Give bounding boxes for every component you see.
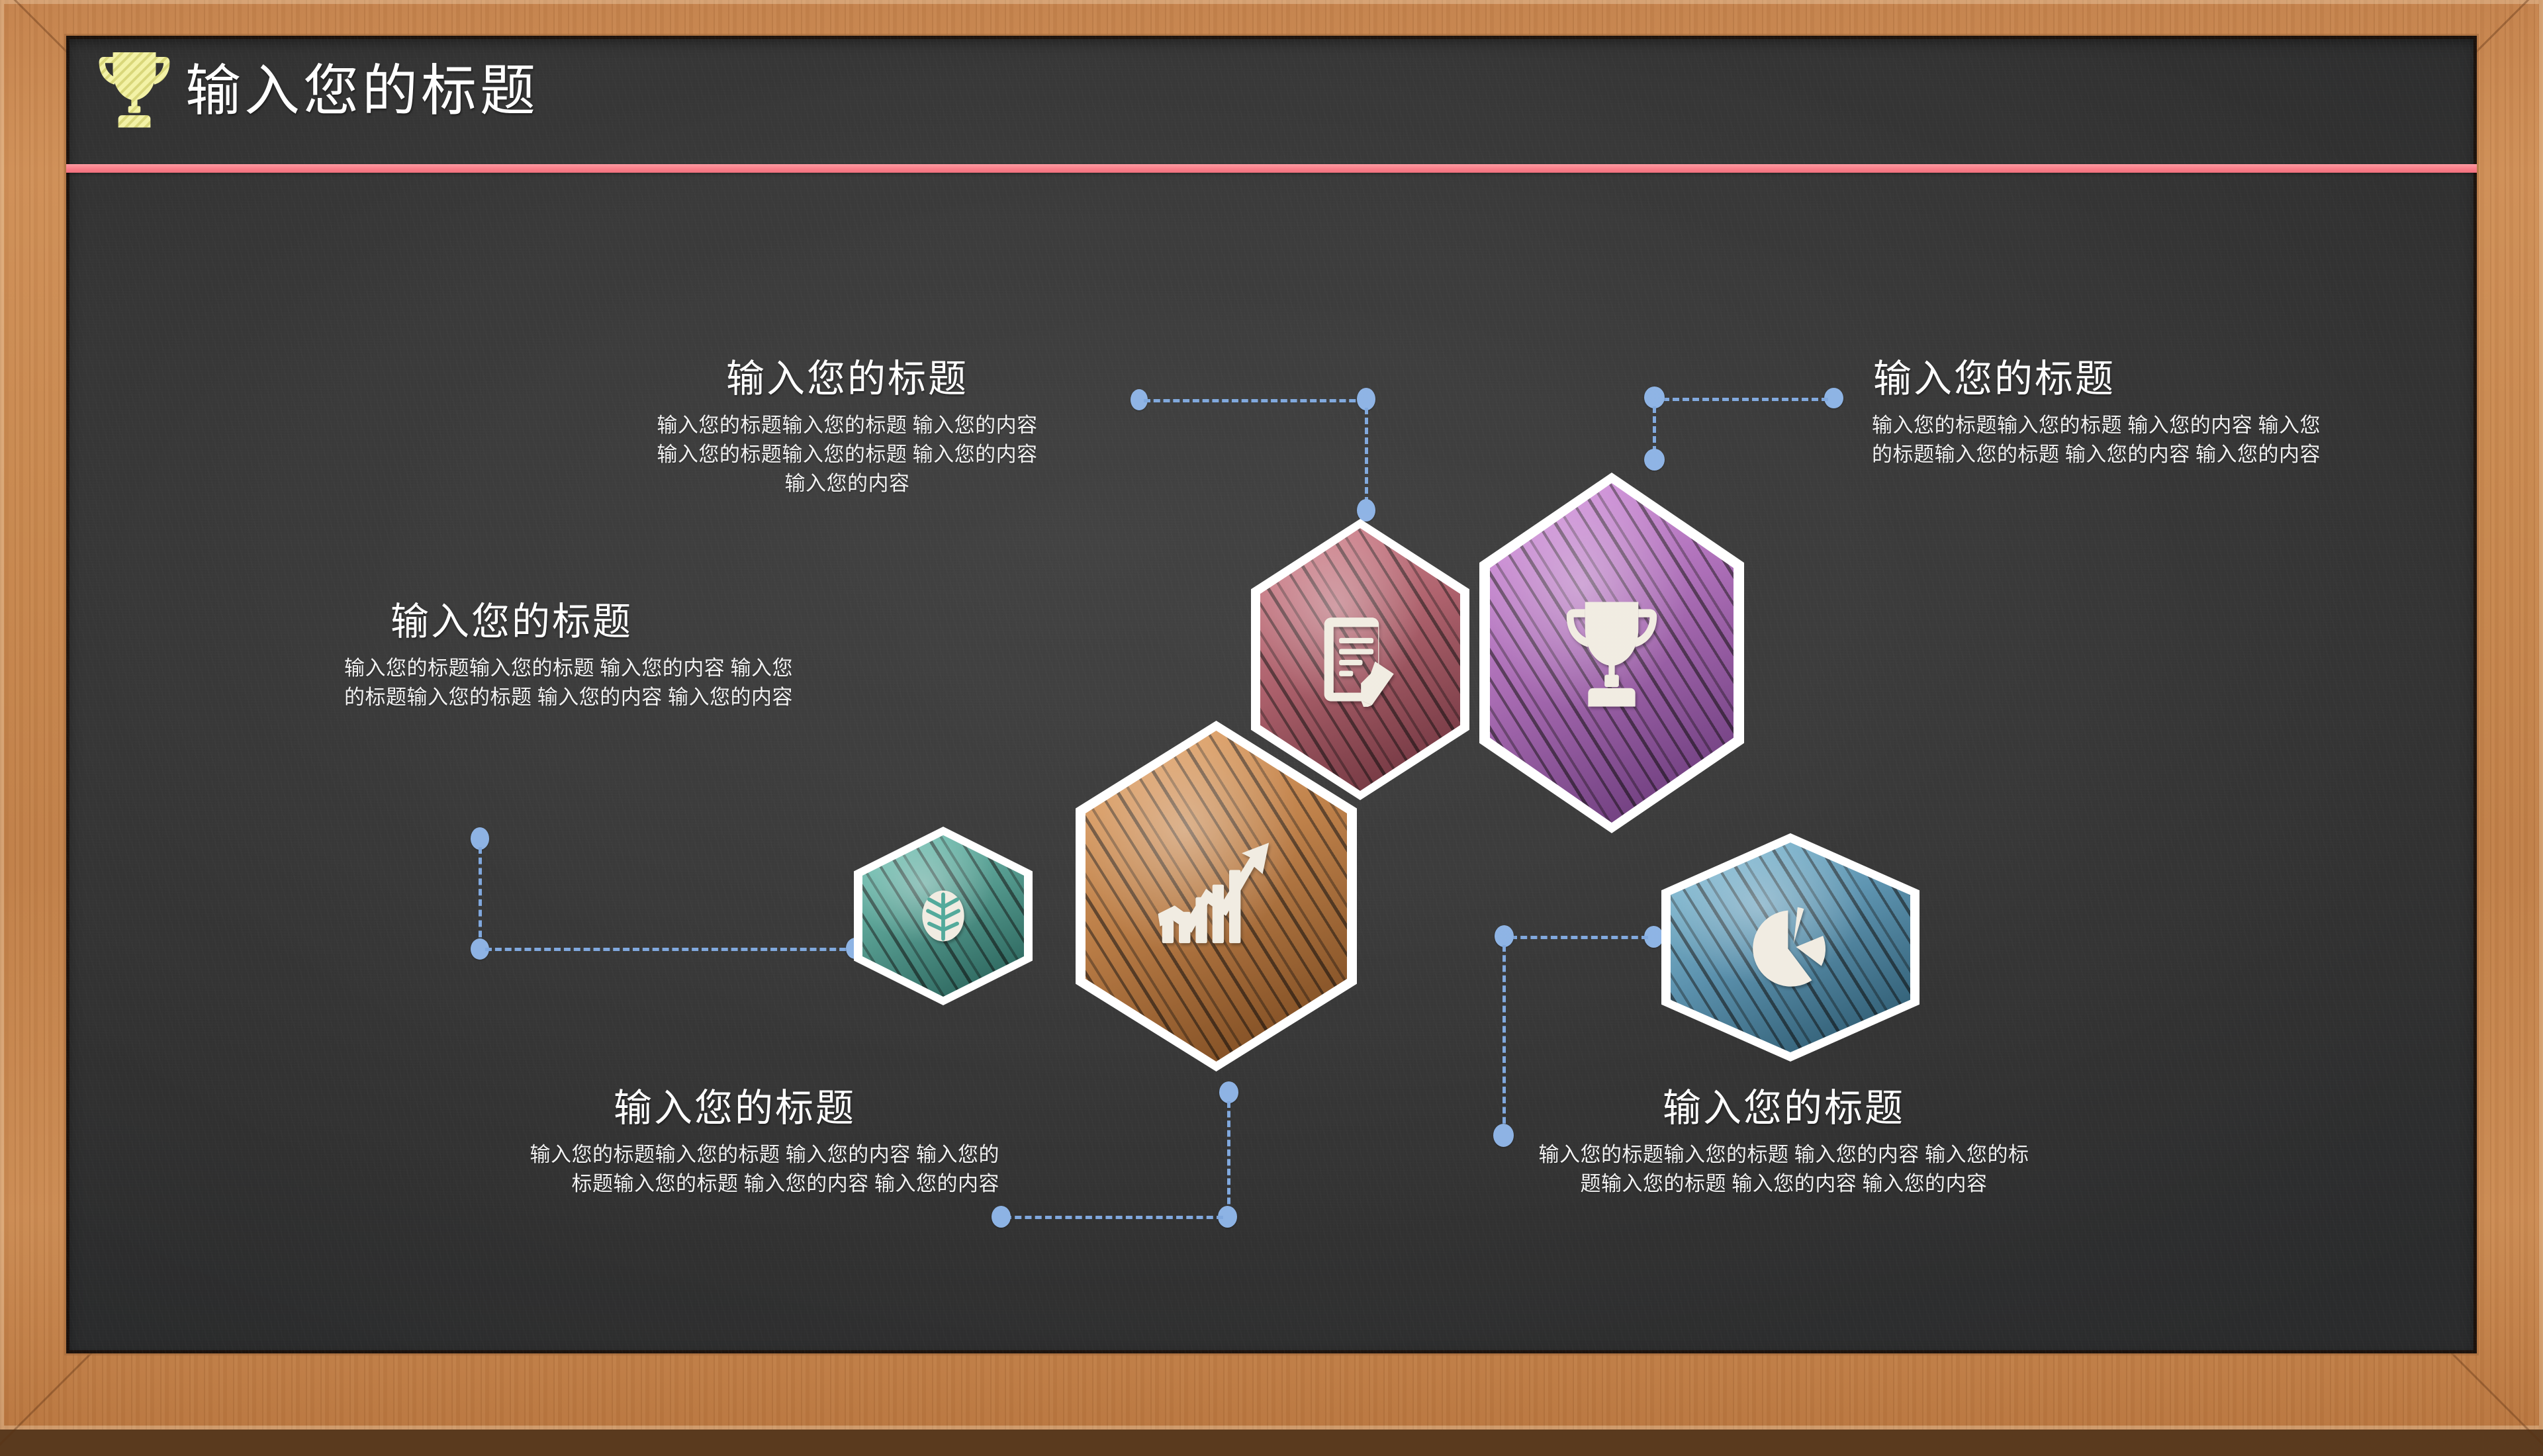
block-top-right-body: 输入您的标题输入您的标题 输入您的内容 输入您的标题输入您的标题 输入您的内容 … xyxy=(1853,411,2335,469)
hex-purple[interactable] xyxy=(1479,473,1744,833)
block-middle-left-title: 输入您的标题 xyxy=(344,602,834,643)
trophy-icon xyxy=(1561,596,1663,711)
block-bottom-right-body: 输入您的标题输入您的标题 输入您的内容 输入您的标题输入您的标题 输入您的内容 … xyxy=(1509,1140,2058,1199)
block-bottom-left: 输入您的标题 输入您的标题输入您的标题 输入您的内容 输入您的标题输入您的标题 … xyxy=(477,1088,999,1199)
block-middle-left-body: 输入您的标题输入您的标题 输入您的内容 输入您的标题输入您的标题 输入您的内容 … xyxy=(344,654,794,712)
hex-blue[interactable] xyxy=(1661,833,1919,1062)
hex-orange[interactable] xyxy=(1076,721,1357,1071)
block-bottom-left-title: 输入您的标题 xyxy=(477,1088,999,1130)
block-bottom-left-body: 输入您的标题输入您的标题 输入您的内容 输入您的标题输入您的标题 输入您的内容 … xyxy=(477,1140,999,1199)
block-bottom-right-title: 输入您的标题 xyxy=(1509,1088,2058,1130)
hex-teal[interactable] xyxy=(854,827,1033,1005)
block-top-left-title: 输入您的标题 xyxy=(569,359,1125,400)
chalkboard-canvas: 输入您的标题 xyxy=(66,36,2477,1353)
block-bottom-right: 输入您的标题 输入您的标题输入您的标题 输入您的内容 输入您的标题输入您的标题 … xyxy=(1509,1088,2058,1199)
leaf-icon xyxy=(911,884,975,948)
block-top-right: 输入您的标题 输入您的标题输入您的标题 输入您的内容 输入您的标题输入您的标题 … xyxy=(1853,359,2356,469)
document-pen-icon xyxy=(1317,613,1403,707)
block-top-left-body: 输入您的标题输入您的标题 输入您的内容 输入您的标题输入您的标题 输入您的内容 … xyxy=(569,411,1125,498)
pie-chart-icon xyxy=(1747,904,1834,991)
block-middle-left: 输入您的标题 输入您的标题输入您的标题 输入您的内容 输入您的标题输入您的标题 … xyxy=(344,602,834,712)
block-top-right-title: 输入您的标题 xyxy=(1853,359,2356,400)
block-top-left: 输入您的标题 输入您的标题输入您的标题 输入您的内容 输入您的标题输入您的标题 … xyxy=(569,359,1125,498)
hex-red[interactable] xyxy=(1251,519,1469,800)
growth-chart-icon xyxy=(1154,839,1279,954)
